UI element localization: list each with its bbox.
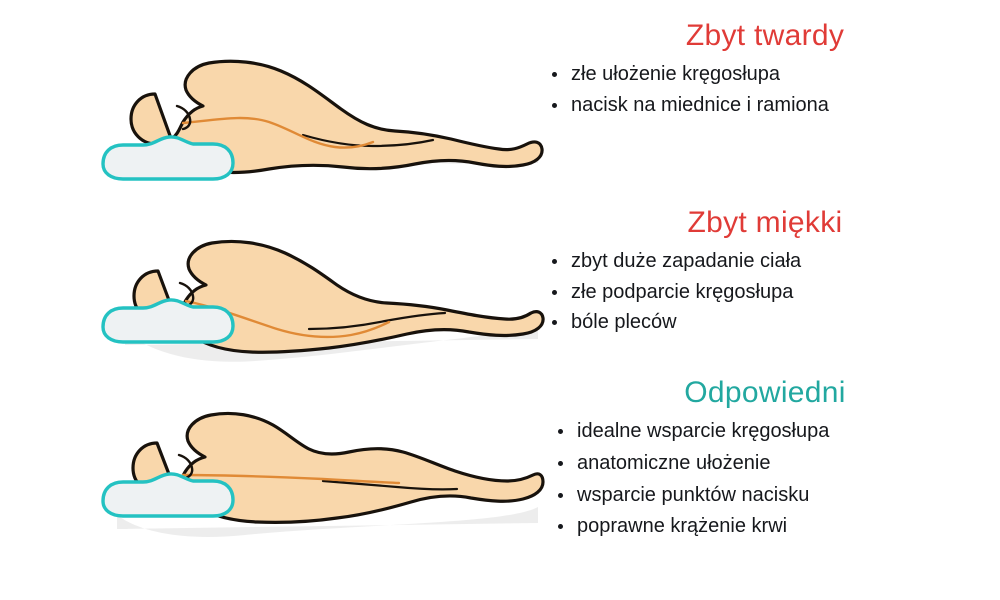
- list-item: złe ułożenie kręgosłupa: [543, 59, 995, 89]
- illustration-person-correct-mattress: [55, 375, 545, 550]
- illustration-person-soft-mattress: [55, 205, 545, 375]
- bullet-list-too-soft: zbyt duże zapadanie ciała złe podparcie …: [543, 246, 995, 337]
- list-item: anatomiczne ułożenie: [549, 448, 995, 480]
- text-block-too-soft: Zbyt miękki zbyt duże zapadanie ciała zł…: [535, 205, 995, 338]
- text-block-correct: Odpowiedni idealne wsparcie kręgosłupa a…: [535, 375, 995, 543]
- figure-too-firm: [55, 18, 545, 188]
- section-too-soft: Zbyt miękki zbyt duże zapadanie ciała zł…: [0, 205, 1000, 380]
- list-item: złe podparcie kręgosłupa: [543, 277, 995, 307]
- list-item: zbyt duże zapadanie ciała: [543, 246, 995, 276]
- illustration-person-firm-mattress: [55, 18, 545, 188]
- list-item: nacisk na miednice i ramiona: [543, 90, 995, 120]
- list-item: idealne wsparcie kręgosłupa: [549, 416, 995, 448]
- text-block-too-firm: Zbyt twardy złe ułożenie kręgosłupa naci…: [535, 18, 995, 120]
- list-item: wsparcie punktów nacisku: [549, 480, 995, 512]
- heading-correct: Odpowiedni: [535, 375, 995, 410]
- figure-too-soft: [55, 205, 545, 375]
- section-too-firm: Zbyt twardy złe ułożenie kręgosłupa naci…: [0, 18, 1000, 208]
- list-item: bóle pleców: [543, 307, 995, 337]
- ergonomic-pillow: [103, 474, 233, 516]
- heading-too-firm: Zbyt twardy: [535, 18, 995, 53]
- section-correct: Odpowiedni idealne wsparcie kręgosłupa a…: [0, 375, 1000, 575]
- figure-correct: [55, 375, 545, 550]
- bullet-list-correct: idealne wsparcie kręgosłupa anatomiczne …: [549, 416, 995, 542]
- ergonomic-pillow: [103, 300, 233, 342]
- heading-too-soft: Zbyt miękki: [535, 205, 995, 240]
- infographic-root: Zbyt twardy złe ułożenie kręgosłupa naci…: [0, 0, 1000, 600]
- ergonomic-pillow: [103, 137, 233, 179]
- list-item: poprawne krążenie krwi: [549, 511, 995, 543]
- bullet-list-too-firm: złe ułożenie kręgosłupa nacisk na miedni…: [543, 59, 995, 120]
